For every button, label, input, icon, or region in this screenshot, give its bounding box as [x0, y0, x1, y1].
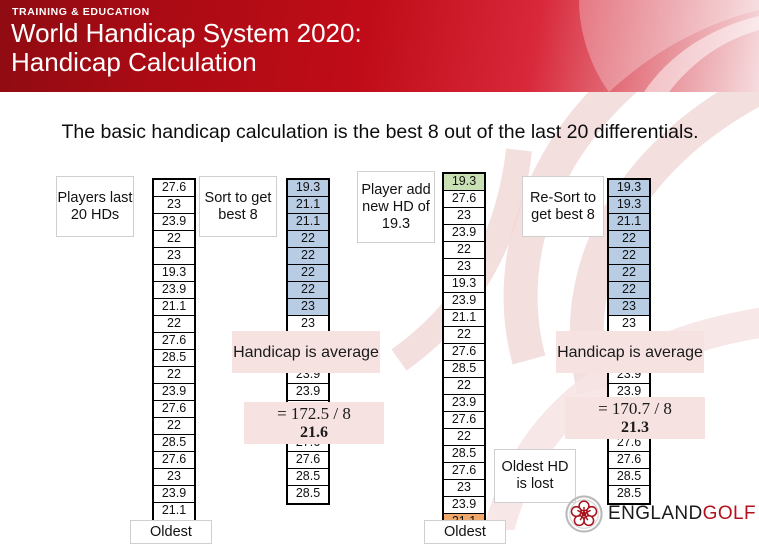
score-cell: 23.9 [154, 486, 194, 503]
score-cell: 28.5 [154, 350, 194, 367]
score-cell: 27.6 [444, 191, 484, 208]
score-cell: 19.3 [154, 265, 194, 282]
score-cell: 23.9 [444, 225, 484, 242]
label-player-add-new-hd: Player add new HD of 19.3 [357, 171, 435, 243]
score-cell: 27.6 [444, 412, 484, 429]
score-cell: 23.9 [154, 384, 194, 401]
score-cell: 22 [444, 327, 484, 344]
score-cell: 22 [288, 282, 328, 299]
score-cell: 27.6 [154, 333, 194, 350]
callout-equation: = 170.7 / 8 [598, 399, 672, 418]
slide-subtitle: The basic handicap calculation is the be… [55, 120, 705, 145]
score-cell: 22 [154, 231, 194, 248]
score-cell: 22 [444, 242, 484, 259]
score-cell: 19.3 [444, 276, 484, 293]
score-cell: 28.5 [609, 469, 649, 486]
score-cell: 19.3 [444, 174, 484, 191]
england-golf-logo: ENGLANDGOLF [565, 495, 756, 533]
label-re-sort-best-8: Re-Sort to get best 8 [522, 176, 604, 237]
score-cell: 23.9 [444, 293, 484, 310]
logo-wordmark: ENGLANDGOLF [608, 503, 756, 525]
score-cell: 22 [444, 378, 484, 395]
score-cell: 21.1 [609, 214, 649, 231]
score-cell: 23.9 [288, 384, 328, 401]
header-swoosh-decoration [459, 0, 759, 92]
score-cell: 22 [154, 316, 194, 333]
page-title-line-1: World Handicap System 2020: [11, 19, 362, 48]
label-oldest-hd-is-lost: Oldest HD is lost [494, 449, 576, 503]
score-cell: 23 [444, 208, 484, 225]
score-cell: 22 [288, 231, 328, 248]
score-cell: 27.6 [444, 463, 484, 480]
score-cell: 27.6 [154, 452, 194, 469]
label-oldest-middle: Oldest [424, 520, 506, 544]
score-cell: 23.9 [444, 395, 484, 412]
score-cell: 23.9 [154, 214, 194, 231]
score-cell: 22 [609, 282, 649, 299]
label-players-last-20: Players last 20 HDs [56, 176, 134, 237]
callout-result: 21.6 [300, 423, 328, 442]
score-cell: 23 [609, 299, 649, 316]
score-cell: 28.5 [444, 446, 484, 463]
score-cell: 27.6 [609, 452, 649, 469]
score-cell: 22 [609, 248, 649, 265]
score-cell: 22 [609, 265, 649, 282]
score-cell: 23 [444, 259, 484, 276]
score-cell: 28.5 [444, 361, 484, 378]
score-cell: 21.1 [444, 310, 484, 327]
label-sort-to-get-best-8: Sort to get best 8 [199, 176, 277, 237]
callout-calculation-right: = 170.7 / 8 21.3 [565, 397, 705, 439]
label-oldest-left: Oldest [130, 520, 212, 544]
score-cell: 19.3 [288, 180, 328, 197]
column-players-last-20: 27.62323.9222319.323.921.12227.628.52223… [152, 178, 196, 522]
page-title: World Handicap System 2020: Handicap Cal… [11, 19, 362, 77]
column-with-new-hd: 19.327.62323.9222319.323.921.12227.628.5… [442, 172, 486, 533]
score-cell: 22 [288, 265, 328, 282]
page-title-line-2: Handicap Calculation [11, 48, 362, 77]
score-cell: 27.6 [154, 401, 194, 418]
score-cell: 23.9 [444, 497, 484, 514]
score-cell: 27.6 [444, 344, 484, 361]
callout-handicap-is-average-right: Handicap is average [556, 331, 704, 373]
score-cell: 23 [154, 197, 194, 214]
score-cell: 28.5 [288, 469, 328, 486]
score-cell: 23 [288, 299, 328, 316]
callout-calculation-left: = 172.5 / 8 21.6 [244, 402, 384, 444]
callout-result: 21.3 [621, 418, 649, 437]
score-cell: 19.3 [609, 197, 649, 214]
score-cell: 23 [154, 469, 194, 486]
score-cell: 22 [444, 429, 484, 446]
score-cell: 19.3 [609, 180, 649, 197]
score-cell: 27.6 [288, 452, 328, 469]
score-cell: 23 [154, 248, 194, 265]
score-cell: 22 [609, 231, 649, 248]
score-cell: 22 [154, 418, 194, 435]
callout-text: Handicap is average [233, 343, 379, 362]
score-cell: 21.1 [288, 214, 328, 231]
logo-word-golf: GOLF [703, 503, 756, 524]
score-cell: 27.6 [154, 180, 194, 197]
callout-text: Handicap is average [557, 343, 703, 362]
score-cell: 23 [444, 480, 484, 497]
score-cell: 28.5 [154, 435, 194, 452]
score-cell: 23.9 [154, 282, 194, 299]
callout-handicap-is-average-left: Handicap is average [232, 331, 380, 373]
logo-word-england: ENGLAND [608, 503, 703, 524]
score-cell: 21.1 [288, 197, 328, 214]
score-cell: 22 [288, 248, 328, 265]
score-cell: 21.1 [154, 503, 194, 520]
header-kicker: TRAINING & EDUCATION [12, 6, 150, 18]
score-cell: 28.5 [288, 486, 328, 503]
callout-equation: = 172.5 / 8 [277, 404, 351, 423]
score-cell: 22 [154, 367, 194, 384]
tudor-rose-icon [565, 495, 603, 533]
score-cell: 21.1 [154, 299, 194, 316]
